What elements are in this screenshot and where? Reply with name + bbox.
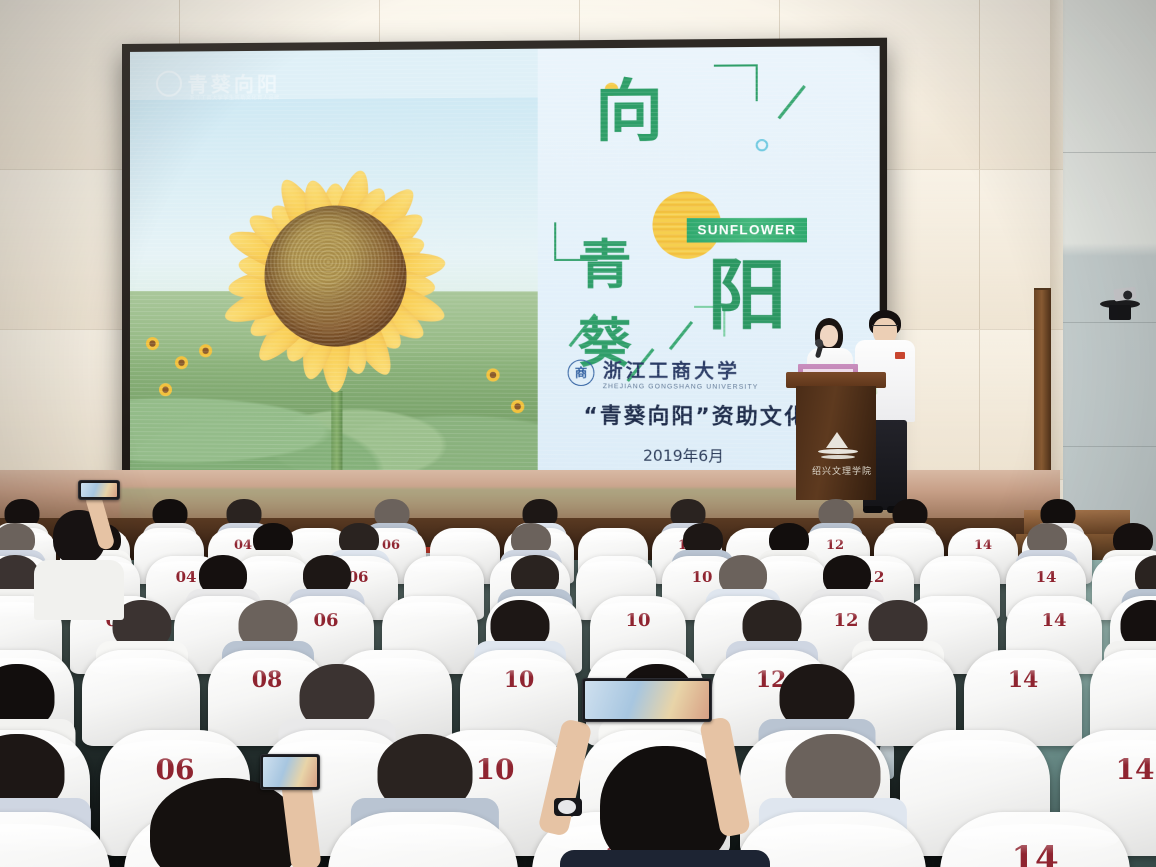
audience-photographer-front — [560, 690, 770, 867]
logo-wave — [818, 449, 858, 454]
podium: 绍兴文理学院 — [790, 372, 882, 500]
slash-decoration — [669, 321, 693, 350]
disc-texture — [265, 205, 407, 346]
seat-number: 14 — [940, 839, 1130, 867]
slide-char-qing: 青 — [578, 240, 632, 293]
institution-name-cn: 绍兴文理学院 — [806, 464, 878, 477]
ring-decoration — [755, 139, 768, 151]
smartphone[interactable] — [260, 754, 320, 790]
background-sunflower — [175, 356, 188, 369]
led-screen-frame: 向 青 葵 阳 SUNFLOWER 商 浙江工商大学 ZHEJIANG GONG… — [122, 38, 887, 495]
audience-photographer-upper-left — [34, 480, 124, 590]
background-sunflower — [511, 400, 524, 413]
head — [150, 778, 300, 867]
sunflower-photo — [130, 97, 545, 485]
sunflower-disc — [265, 205, 407, 346]
presentation-slide[interactable]: 向 青 葵 阳 SUNFLOWER 商 浙江工商大学 ZHEJIANG GONG… — [130, 46, 880, 486]
smartphone[interactable] — [78, 480, 120, 500]
seat-number: 14 — [948, 538, 1018, 553]
shoe — [863, 506, 883, 513]
background-sunflower — [159, 383, 172, 396]
wall-seam — [1063, 446, 1156, 447]
podium-body: 绍兴文理学院 — [796, 386, 876, 500]
slash-decoration — [777, 85, 805, 119]
slide-char-xiang: 向 — [595, 78, 663, 146]
wall-seam — [1063, 152, 1156, 153]
body — [560, 850, 770, 867]
brand-watermark: 青葵向阳 浙江工商大学学生资助文化育人品牌 — [156, 68, 281, 98]
sunflower-bloom — [210, 149, 464, 402]
lanyard-badge — [895, 352, 905, 359]
wall-panel — [880, 170, 980, 330]
logo-wave — [821, 455, 855, 459]
seat-number: 10 — [590, 610, 686, 631]
university-name-en: ZHEJIANG GONGSHANG UNIVERSITY — [603, 383, 759, 391]
camera-body — [1113, 287, 1136, 302]
glasses-icon — [872, 325, 898, 331]
watch-face — [558, 800, 576, 814]
bracket-decoration — [714, 64, 758, 101]
audience-photographer-left — [110, 760, 340, 867]
slide-char-yang: 阳 — [707, 257, 786, 335]
seat-number: 14 — [1060, 753, 1156, 786]
logo-mountain — [826, 432, 848, 448]
brand-subtitle: 浙江工商大学学生资助文化育人品牌 — [190, 94, 280, 102]
university-name-cn: 浙江工商大学 — [603, 355, 759, 383]
body — [34, 560, 124, 620]
sunflower-banner-label: SUNFLOWER — [697, 222, 796, 237]
background-sunflower — [486, 369, 499, 382]
video-camera-icon — [1100, 286, 1142, 322]
slide-date: 2019年6月 — [551, 444, 818, 467]
brand-mark-icon — [156, 70, 182, 96]
wall-seam — [1063, 322, 1156, 323]
smartphone[interactable] — [582, 678, 712, 722]
phone-screen — [585, 681, 709, 719]
seat-number: 14 — [1006, 610, 1102, 631]
auditorium-scene: 向 青 葵 阳 SUNFLOWER 商 浙江工商大学 ZHEJIANG GONG… — [0, 0, 1156, 867]
camera-bracket — [1109, 305, 1131, 320]
camera-lens — [1123, 290, 1133, 300]
institution-logo-icon — [818, 432, 858, 458]
seat-number: 14 — [964, 667, 1082, 693]
phone-screen — [263, 757, 317, 787]
university-seal-icon: 商 — [568, 359, 595, 386]
sunflower-banner: SUNFLOWER — [687, 218, 807, 243]
seat-number: 14 — [1006, 568, 1086, 586]
microphone-head — [815, 339, 823, 347]
phone-screen — [81, 483, 117, 497]
